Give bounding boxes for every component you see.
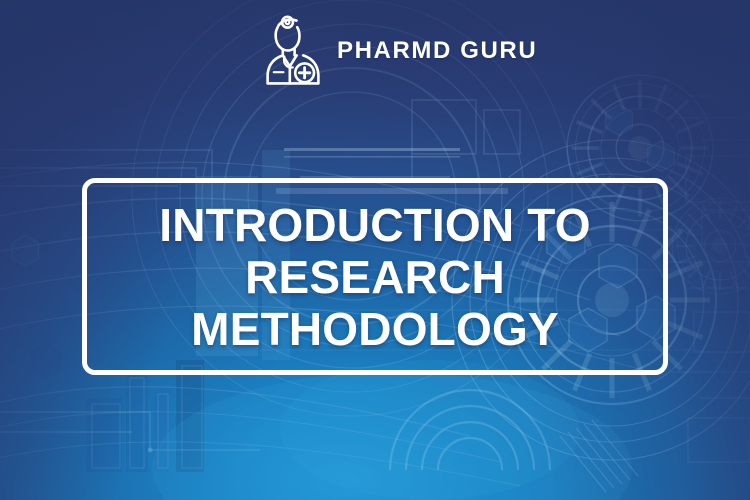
title-line-1: INTRODUCTION TO [159,199,590,251]
title-frame: INTRODUCTION TO RESEARCH METHODOLOGY [82,178,668,375]
title-line-3: METHODOLOGY [191,303,559,355]
medical-cross-badge [295,63,314,82]
brand-name: PHARMD GURU [337,39,537,63]
brand-logo[interactable]: PHARMD GURU [262,12,537,90]
doctor-with-head-mirror-icon [262,12,324,90]
title-line-2: RESEARCH [245,251,505,303]
course-title-banner: PHARMD GURU INTRODUCTION TO RESEARCH MET… [0,0,750,500]
